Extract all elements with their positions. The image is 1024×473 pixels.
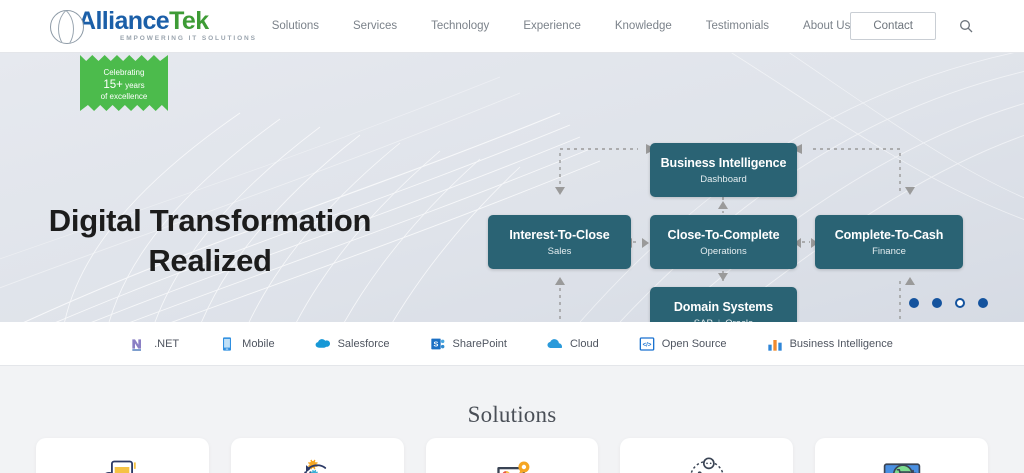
hero-headline: Digital Transformation Realized <box>0 201 420 280</box>
tech-item-label: Cloud <box>570 338 599 350</box>
badge-line3: of excellence <box>101 92 148 102</box>
logo-text-block: AllianceTek EMPOWERING IT SOLUTIONS <box>78 9 257 43</box>
node-title: Domain Systems <box>674 300 773 314</box>
site-header: AllianceTek EMPOWERING IT SOLUTIONS Solu… <box>0 0 1024 53</box>
diagram-node-complete-to-cash[interactable]: Complete-To-Cash Finance <box>815 215 963 269</box>
alliancetek-logo[interactable]: AllianceTek EMPOWERING IT SOLUTIONS <box>50 9 257 44</box>
node-title: Complete-To-Cash <box>835 228 944 242</box>
ecommerce-cart-monitor-icon <box>880 456 924 473</box>
tech-item-dotnet[interactable]: .NET <box>131 336 179 352</box>
header-actions: Contact <box>850 12 1024 40</box>
salesforce-cloud-icon <box>315 336 331 352</box>
search-icon[interactable] <box>958 18 974 34</box>
carousel-dot-1[interactable] <box>909 298 919 308</box>
node-sub-separator: | <box>718 318 720 323</box>
tech-item-label: Business Intelligence <box>790 338 893 350</box>
laptop-analytics-icon <box>490 456 534 473</box>
tech-item-label: Salesforce <box>338 338 390 350</box>
tech-item-label: Open Source <box>662 338 727 350</box>
tech-item-mobile[interactable]: Mobile <box>219 336 274 352</box>
solution-card[interactable] <box>426 438 599 473</box>
tech-item-business-intelligence[interactable]: Business Intelligence <box>767 336 893 352</box>
nav-item-solutions[interactable]: Solutions <box>272 20 319 32</box>
logo-area[interactable]: AllianceTek EMPOWERING IT SOLUTIONS <box>0 9 272 44</box>
diagram-node-interest-to-close[interactable]: Interest-To-Close Sales <box>488 215 631 269</box>
open-source-code-icon: </> <box>639 336 655 352</box>
node-title: Close-To-Complete <box>668 228 780 242</box>
diagram-node-domain-systems[interactable]: Domain Systems SAP|Oracle <box>650 287 797 322</box>
badge-text: Celebrating 15+ years of excellence <box>101 64 148 102</box>
mobile-app-user-icon <box>100 456 144 473</box>
solution-card[interactable] <box>815 438 988 473</box>
badge-years-word: years <box>125 81 145 90</box>
carousel-dot-4[interactable] <box>978 298 988 308</box>
badge-line1: Celebrating <box>101 68 148 78</box>
badge-line2: 15+ years <box>101 78 148 92</box>
node-sub-oracle: Oracle <box>725 318 753 323</box>
node-subtitle: Dashboard <box>700 174 746 185</box>
nav-item-testimonials[interactable]: Testimonials <box>706 20 769 32</box>
main-navigation: Solutions Services Technology Experience… <box>272 20 851 32</box>
sharepoint-icon: S <box>430 336 446 352</box>
node-subtitle: Finance <box>872 246 906 257</box>
diagram-node-business-intelligence[interactable]: Business Intelligence Dashboard <box>650 143 797 197</box>
tech-item-label: .NET <box>154 338 179 350</box>
gears-automation-icon <box>295 456 339 473</box>
node-title: Interest-To-Close <box>509 228 609 242</box>
tech-item-label: SharePoint <box>453 338 507 350</box>
logo-name: AllianceTek <box>78 9 257 35</box>
process-diagram: Business Intelligence Dashboard Interest… <box>470 131 990 322</box>
anniversary-badge: Celebrating 15+ years of excellence <box>80 55 168 111</box>
tech-item-sharepoint[interactable]: S SharePoint <box>430 336 507 352</box>
carousel-dot-2[interactable] <box>932 298 942 308</box>
bar-chart-icon <box>767 336 783 352</box>
hero-headline-line2: Realized <box>0 241 420 281</box>
dotnet-icon <box>131 336 147 352</box>
nav-item-technology[interactable]: Technology <box>431 20 489 32</box>
solution-card[interactable] <box>620 438 793 473</box>
logo-name-part2: Tek <box>169 7 208 35</box>
customer-feedback-cycle-icon <box>685 456 729 473</box>
solutions-card-row <box>36 438 988 473</box>
solution-card[interactable] <box>231 438 404 473</box>
nav-item-experience[interactable]: Experience <box>523 20 581 32</box>
logo-name-part1: Alliance <box>78 7 169 35</box>
node-subtitle: Operations <box>700 246 746 257</box>
hero-banner: Celebrating 15+ years of excellence Digi… <box>0 53 1024 322</box>
solutions-heading: Solutions <box>0 366 1024 428</box>
carousel-dot-3-active[interactable] <box>955 298 965 308</box>
nav-item-knowledge[interactable]: Knowledge <box>615 20 672 32</box>
svg-text:</>: </> <box>642 342 651 348</box>
nav-item-services[interactable]: Services <box>353 20 397 32</box>
tech-item-label: Mobile <box>242 338 274 350</box>
node-sub-sap: SAP <box>694 318 713 323</box>
carousel-dots <box>909 298 988 308</box>
badge-years-number: 15+ <box>103 79 123 91</box>
node-subtitle: SAP|Oracle <box>694 318 753 323</box>
hero-headline-line1: Digital Transformation <box>0 201 420 241</box>
tech-item-open-source[interactable]: </> Open Source <box>639 336 727 352</box>
globe-logo-icon <box>50 10 84 44</box>
technology-strip: .NET Mobile Salesforce S SharePoint Clou… <box>0 322 1024 366</box>
nav-item-about-us[interactable]: About Us <box>803 20 850 32</box>
node-subtitle: Sales <box>548 246 572 257</box>
solutions-section: Solutions <box>0 366 1024 473</box>
solution-card[interactable] <box>36 438 209 473</box>
node-title: Business Intelligence <box>661 156 787 170</box>
tech-item-salesforce[interactable]: Salesforce <box>315 336 390 352</box>
diagram-node-close-to-complete[interactable]: Close-To-Complete Operations <box>650 215 797 269</box>
tech-item-cloud[interactable]: Cloud <box>547 336 599 352</box>
svg-text:S: S <box>433 339 438 348</box>
cloud-icon <box>547 336 563 352</box>
mobile-phone-icon <box>219 336 235 352</box>
contact-button[interactable]: Contact <box>850 12 936 40</box>
logo-tagline: EMPOWERING IT SOLUTIONS <box>120 35 257 42</box>
